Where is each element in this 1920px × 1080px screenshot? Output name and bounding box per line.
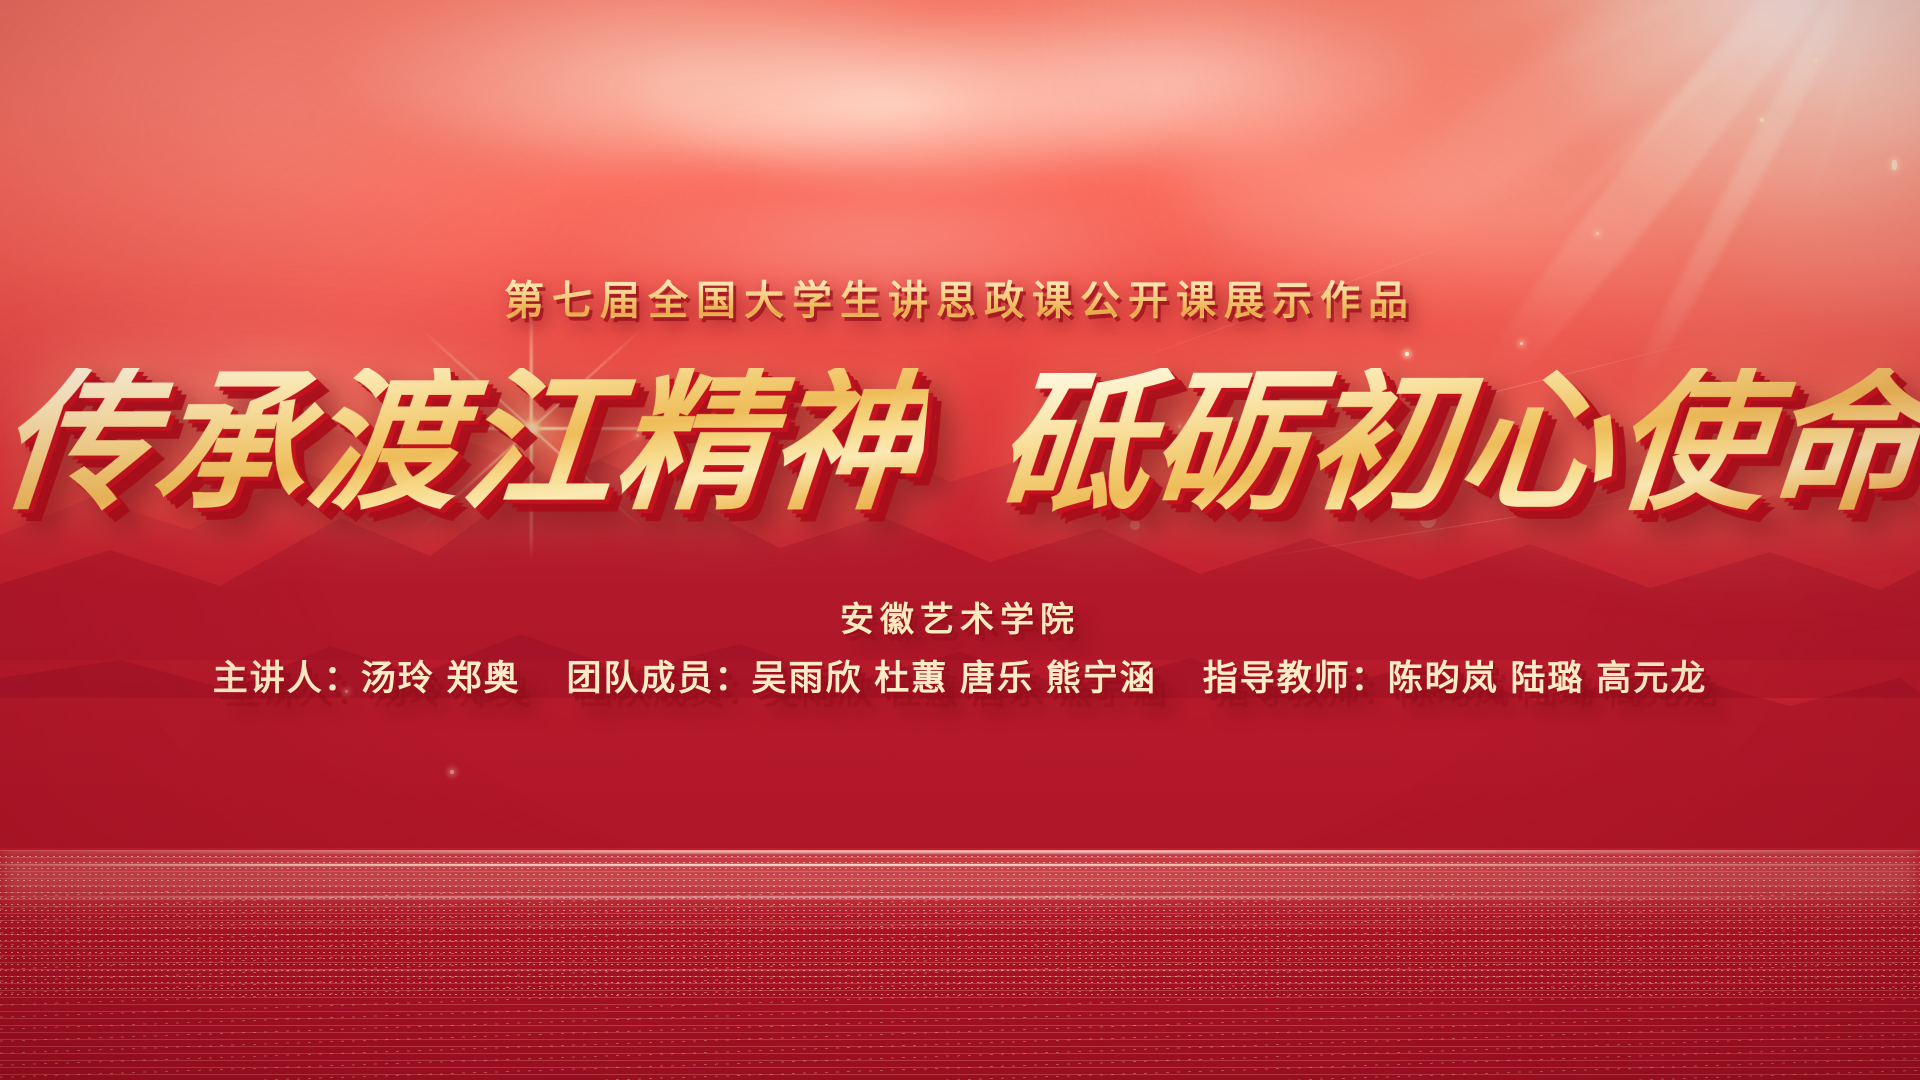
- poster-text-content: 第七届全国大学生讲思政课公开课展示作品 传承渡江精神砥砺初心使命 安徽艺术学院 …: [0, 0, 1920, 1080]
- main-title-part-1: 传承渡江精神: [0, 368, 931, 520]
- competition-subtitle: 第七届全国大学生讲思政课公开课展示作品: [0, 268, 1920, 326]
- team-names: 吴雨欣 杜蕙 唐乐 熊宁涵: [752, 650, 1157, 701]
- advisor-names: 陈昀岚 陆璐 高元龙: [1388, 650, 1707, 701]
- main-title-part-2: 砥砺初心使命: [991, 368, 1920, 520]
- main-title: 传承渡江精神砥砺初心使命: [0, 368, 1920, 520]
- poster-stage: 第七届全国大学生讲思政课公开课展示作品 传承渡江精神砥砺初心使命 安徽艺术学院 …: [0, 0, 1920, 1080]
- presenter-label: 主讲人：: [213, 650, 361, 701]
- school-name: 安徽艺术学院: [0, 592, 1920, 641]
- presenter-names: 汤玲 郑奥: [361, 650, 521, 701]
- credits-line: 主讲人：汤玲 郑奥团队成员：吴雨欣 杜蕙 唐乐 熊宁涵指导教师：陈昀岚 陆璐 高…: [0, 650, 1920, 701]
- advisor-label: 指导教师：: [1203, 650, 1388, 701]
- team-label: 团队成员：: [567, 650, 752, 701]
